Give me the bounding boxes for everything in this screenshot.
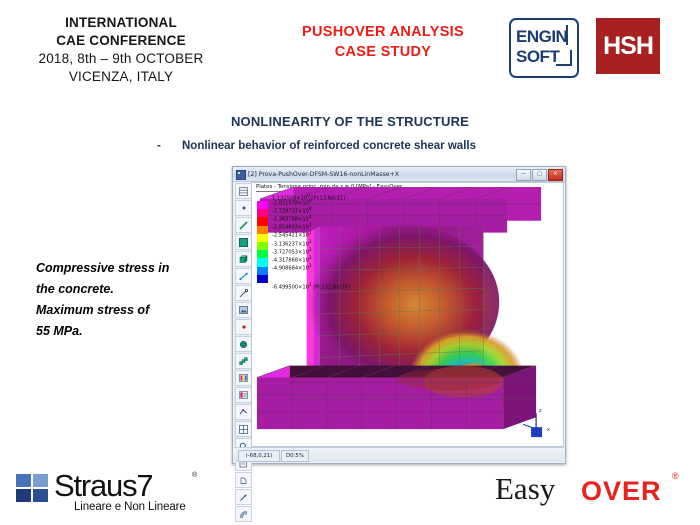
caption-line-1: Compressive stress in xyxy=(36,258,226,279)
slide-title-line-1: PUSHOVER ANALYSIS xyxy=(268,22,498,42)
window-title-bar[interactable]: [2] Prova-PushOver-DFSM-SW16-nonLinMasse… xyxy=(233,167,565,182)
straus7-square-2 xyxy=(33,474,48,487)
contour-icon[interactable] xyxy=(235,370,252,386)
easyover-wordmark-over: OVER xyxy=(581,476,662,507)
annotate-icon[interactable] xyxy=(235,472,252,488)
caption-line-3: Maximum stress of xyxy=(36,300,226,321)
conference-line-2: CAE CONFERENCE xyxy=(6,32,236,50)
svg-text:x: x xyxy=(547,427,550,433)
peel-icon[interactable] xyxy=(235,506,252,522)
legend-color-swatch xyxy=(257,234,268,242)
slide-title-line-2: CASE STUDY xyxy=(268,42,498,62)
conference-info: INTERNATIONAL CAE CONFERENCE 2018, 8th –… xyxy=(6,14,236,86)
enginsoft-logo-line-1: ENGIN xyxy=(516,27,567,47)
legend-color-swatch xyxy=(257,209,268,217)
point-load-icon[interactable] xyxy=(235,319,252,335)
slide-root: INTERNATIONAL CAE CONFERENCE 2018, 8th –… xyxy=(0,0,700,525)
legend-color-swatch xyxy=(257,201,268,209)
legend-rows: -1.821578×100-7.729737×100-1.363788×101-… xyxy=(257,201,379,283)
legend-color-swatch xyxy=(257,217,268,225)
contour-legend: 1.132500×100 [Pl:13,Nd:31] -1.821578×100… xyxy=(257,194,379,290)
legend-color-swatch xyxy=(257,267,268,275)
legend-row: -4.908684×101 xyxy=(257,267,379,275)
conference-line-1: INTERNATIONAL xyxy=(6,14,236,32)
brick-icon[interactable] xyxy=(235,251,252,267)
legend-value-label: -1.821578×100 xyxy=(272,199,312,207)
bullet-dash: - xyxy=(157,140,161,152)
straus7-registered-mark: ® xyxy=(192,472,197,479)
legend-color-swatch xyxy=(257,226,268,234)
link-icon[interactable] xyxy=(235,268,252,284)
straus7-tagline: Lineare e Non Lineare xyxy=(74,501,186,513)
application-icon xyxy=(236,170,246,180)
status-bar: (-68,0,21) D0:5% xyxy=(234,447,564,462)
status-coordinates: (-68,0,21) xyxy=(238,450,280,462)
sphere-icon[interactable] xyxy=(235,336,252,352)
legend-min-note: [Pl:132,Nd:16] xyxy=(313,285,350,291)
close-button[interactable]: × xyxy=(548,169,563,181)
legend-min-exponent: 1 xyxy=(309,283,312,288)
maximize-button[interactable]: □ xyxy=(532,169,547,181)
easyover-registered-mark: ® xyxy=(672,471,679,481)
section-title: NONLINEARITY OF THE STRUCTURE xyxy=(150,114,550,129)
plate-icon[interactable] xyxy=(235,234,252,250)
svg-text:y: y xyxy=(519,418,522,424)
legend-icon[interactable] xyxy=(235,387,252,403)
model-viewport[interactable]: Plates - Tensione princ. min da z = 0 [M… xyxy=(251,182,564,447)
legend-value-label: -1.954603×101 xyxy=(272,223,312,231)
image-icon[interactable] xyxy=(235,302,252,318)
legend-value-label: -7.729737×100 xyxy=(272,207,312,215)
conference-line-3: 2018, 8th – 9th OCTOBER xyxy=(6,50,236,68)
enginsoft-logo-line-2: SOFT xyxy=(516,47,559,67)
caption-line-2: the concrete. xyxy=(36,279,226,300)
enginsoft-logo-bar-right xyxy=(566,25,568,45)
beam-icon[interactable] xyxy=(235,217,252,233)
caption-line-4: 55 MPa. xyxy=(36,321,226,342)
minimize-button[interactable]: — xyxy=(516,169,531,181)
legend-value-label: -4.908684×101 xyxy=(272,264,312,272)
legend-value-label: -2.545421×101 xyxy=(272,231,312,239)
node-icon[interactable] xyxy=(235,200,252,216)
left-toolbar xyxy=(234,182,252,447)
easyover-logo: Easy OVER ® xyxy=(495,472,687,514)
slide-title: PUSHOVER ANALYSIS CASE STUDY xyxy=(268,22,498,62)
bullet-text: Nonlinear behavior of reinforced concret… xyxy=(182,140,476,152)
straus7-square-4 xyxy=(33,489,48,502)
legend-color-swatch xyxy=(257,242,268,250)
table-icon[interactable] xyxy=(235,421,252,437)
legend-value-label: -1.363788×101 xyxy=(272,215,312,223)
enginsoft-logo-bar-bottom xyxy=(556,64,572,66)
enginsoft-logo: ENGIN SOFT xyxy=(509,18,579,78)
legend-value-label: -4.317868×101 xyxy=(272,256,312,264)
legend-value-label: -3.136237×101 xyxy=(272,240,312,248)
mesh-icon[interactable] xyxy=(235,353,252,369)
window-controls: — □ × xyxy=(516,169,563,181)
window-title-text: [2] Prova-PushOver-DFSM-SW16-nonLinMasse… xyxy=(248,169,515,180)
straus7-logo-mark xyxy=(16,474,52,504)
caption-block: Compressive stress in the concrete. Maxi… xyxy=(36,258,226,342)
straus7-wordmark: Straus7 xyxy=(54,468,152,504)
legend-min-value: -6.499500×10 xyxy=(272,285,309,291)
svg-text:z: z xyxy=(539,408,542,414)
legend-color-swatch xyxy=(257,250,268,258)
straus7-logo: Straus7 ® Lineare e Non Lineare xyxy=(16,470,231,516)
hsh-logo: HSH xyxy=(596,18,660,74)
straus7-square-3 xyxy=(16,489,31,502)
legend-row xyxy=(257,275,379,283)
legend-color-swatch xyxy=(257,258,268,266)
legend-min-row: -6.499500×101 [Pl:132,Nd:16] xyxy=(272,283,394,290)
grid-icon[interactable] xyxy=(235,183,252,199)
straus7-application-window: [2] Prova-PushOver-DFSM-SW16-nonLinMasse… xyxy=(232,166,566,464)
attach-icon[interactable] xyxy=(235,285,252,301)
legend-value-label: -3.727053×101 xyxy=(272,248,312,256)
legend-color-swatch xyxy=(257,275,268,283)
straus7-square-1 xyxy=(16,474,31,487)
easyover-wordmark-easy: Easy xyxy=(495,472,555,506)
vector-icon[interactable] xyxy=(235,489,252,505)
displacement-icon[interactable] xyxy=(235,404,252,420)
status-scale: D0:5% xyxy=(281,450,309,462)
conference-line-4: VICENZA, ITALY xyxy=(6,68,236,86)
